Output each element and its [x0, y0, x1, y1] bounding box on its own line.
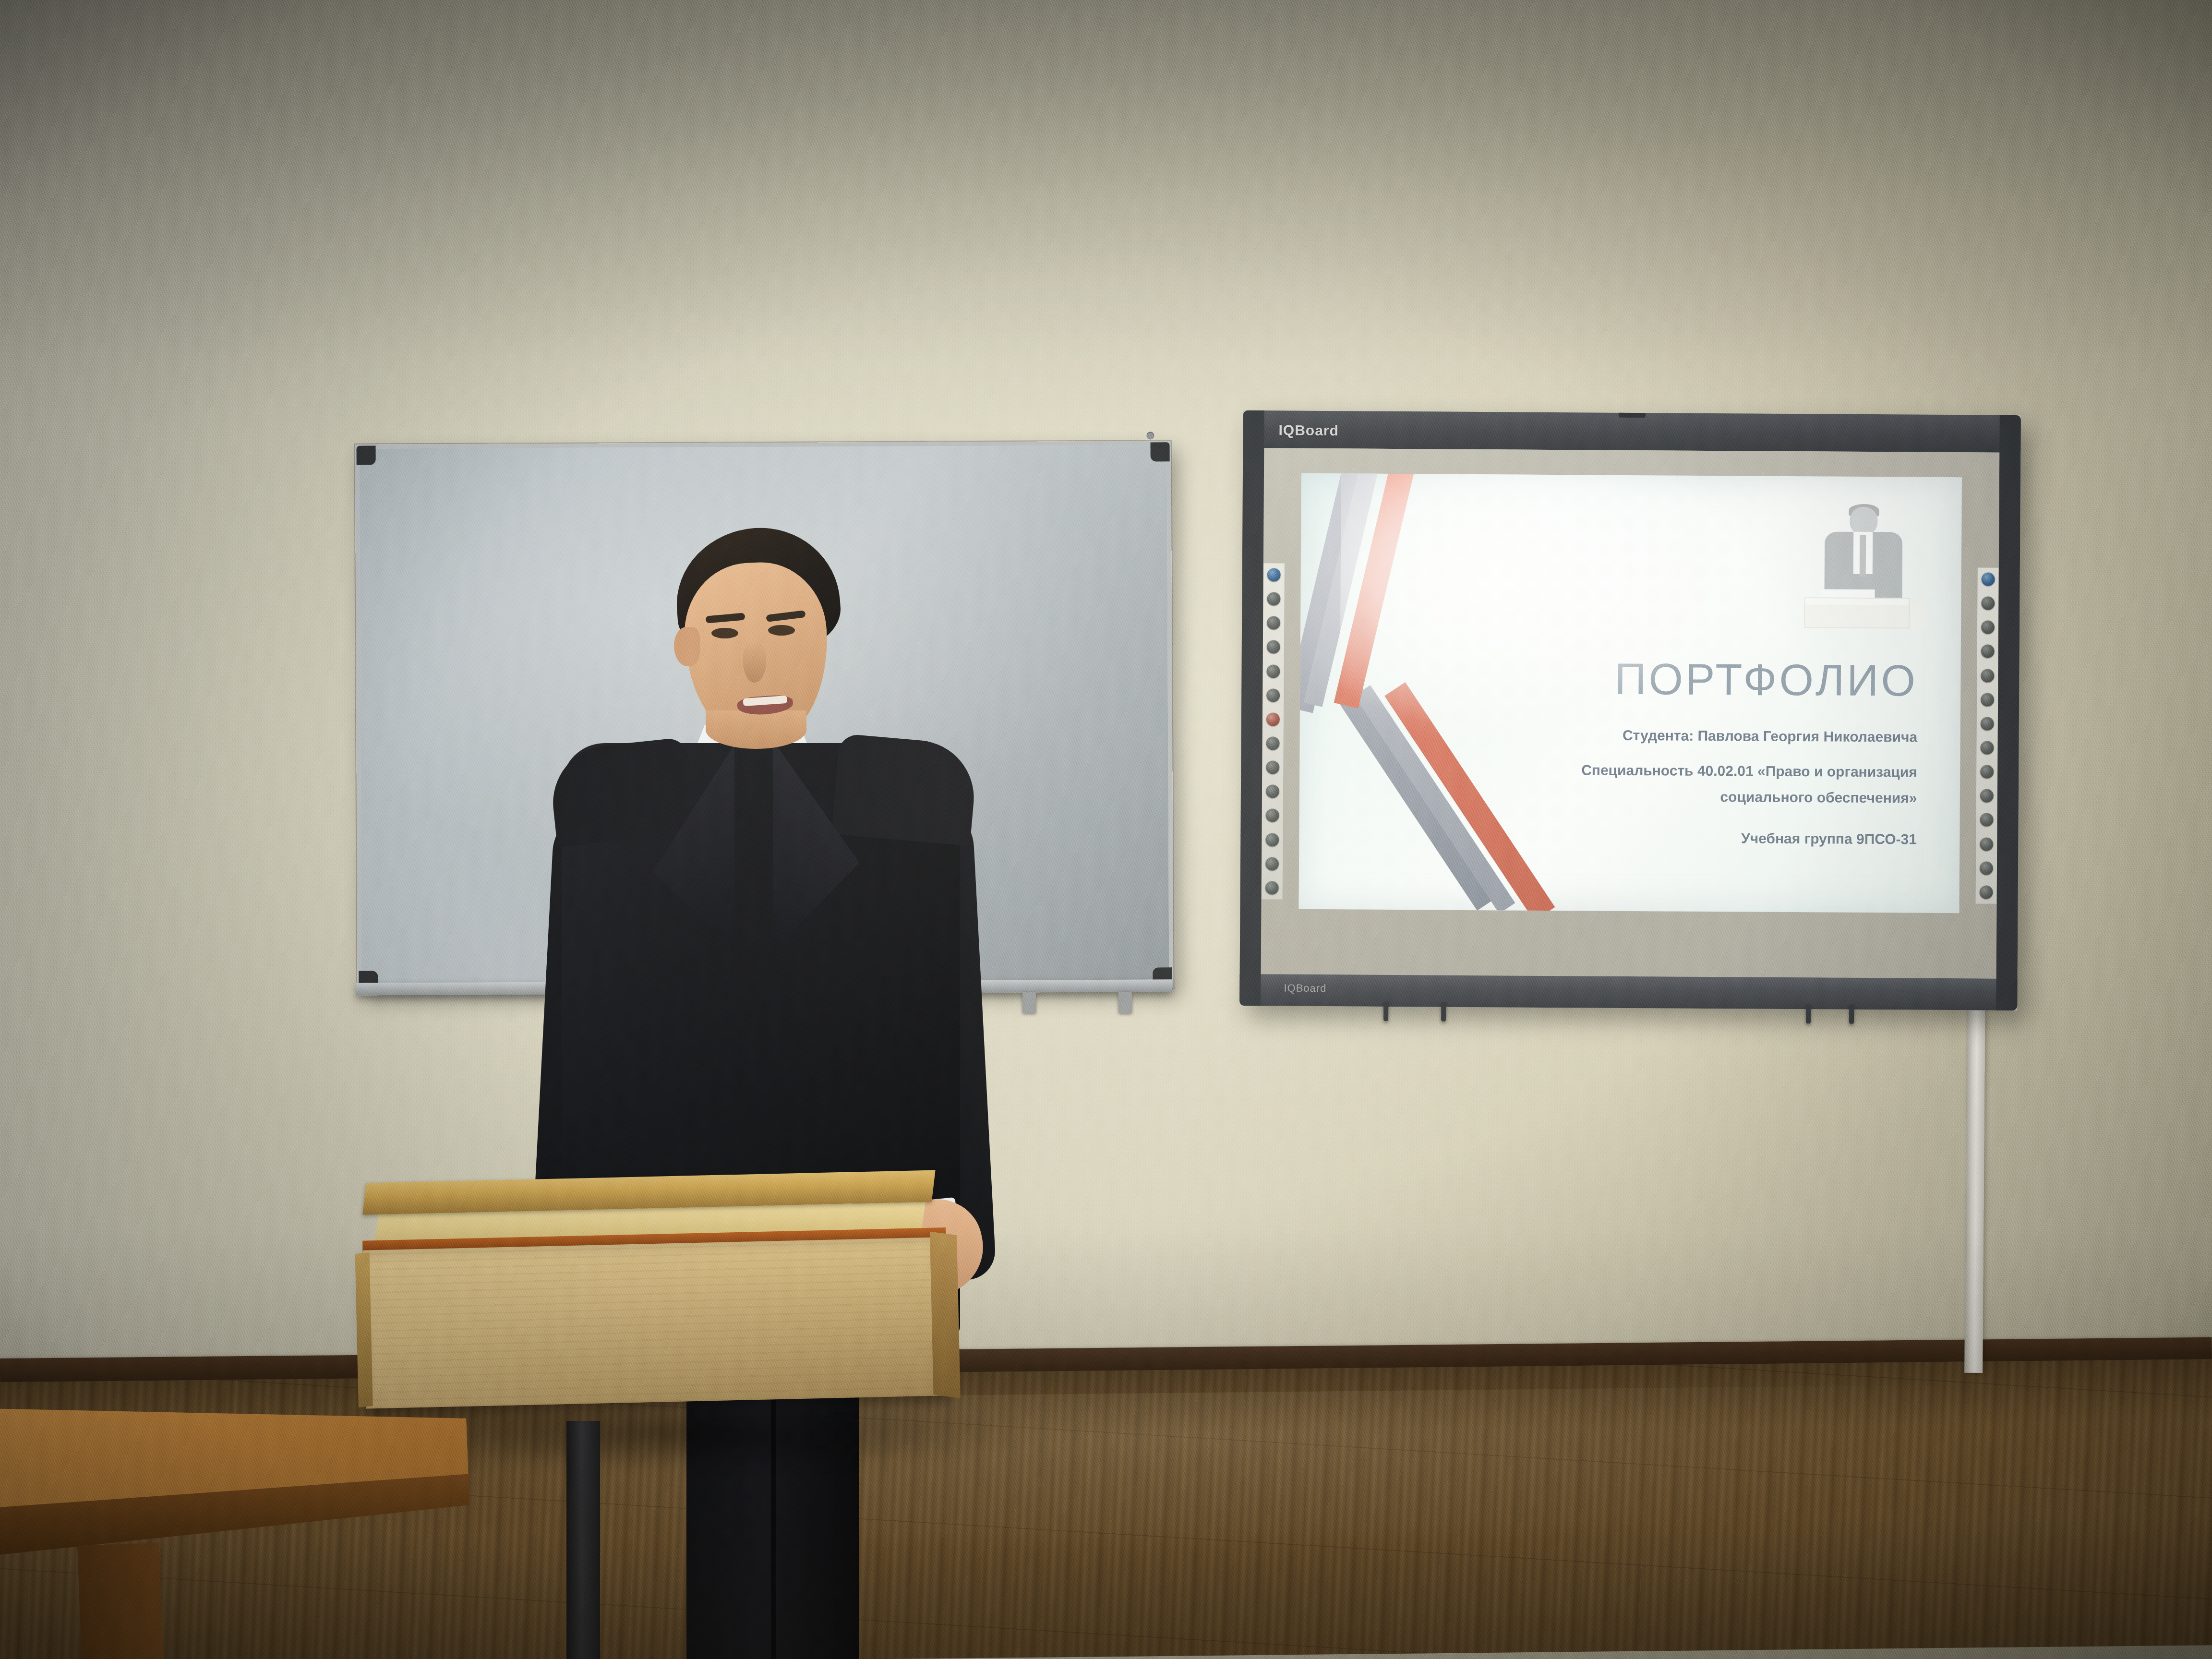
photo-lectern: [1804, 597, 1910, 628]
slide-chevron-gray2-lower: [1354, 685, 1515, 913]
iqboard-bottom-bar: IQBoard: [1239, 974, 2017, 1010]
redo-button[interactable]: [1265, 833, 1279, 846]
highlighter-button[interactable]: [1266, 688, 1280, 702]
iqboard-bottom-label: IQBoard: [1284, 982, 1326, 995]
lectern-right-side: [930, 1231, 961, 1398]
redo-button[interactable]: [1980, 837, 1993, 851]
previous-page-button[interactable]: [1981, 621, 1995, 634]
slide-line-specialty-1: Специальность 40.02.01 «Право и организа…: [1581, 760, 1917, 782]
pen-hook[interactable]: [1441, 1002, 1446, 1022]
iqboard-top-bar: IQBoard: [1243, 410, 2020, 453]
photo-head: [1850, 507, 1878, 535]
whiteboard-corner-cap-top-left: [357, 446, 376, 465]
power-button[interactable]: [1982, 572, 1995, 586]
whiteboard-mount-screw: [1146, 432, 1154, 439]
student-left-eye: [711, 628, 738, 638]
previous-page-button[interactable]: [1267, 616, 1280, 630]
blue-pen-button[interactable]: [1980, 741, 1994, 754]
iqboard-bezel: ПОРТФОЛИО Студента: Павлова Георгия Нико…: [1261, 448, 2000, 978]
lectern-front-face: [362, 1237, 949, 1408]
student-right-eye: [768, 625, 795, 636]
iqboard-left-button-panel[interactable]: [1262, 563, 1285, 899]
zoom-in-button[interactable]: [1265, 857, 1279, 870]
slide-line-student: Студента: Павлова Георгия Николаевича: [1623, 726, 1918, 747]
pen-hook[interactable]: [1806, 1004, 1811, 1023]
pen-hook[interactable]: [1849, 1005, 1854, 1024]
undo-button[interactable]: [1980, 813, 1994, 827]
pen-button[interactable]: [1266, 664, 1280, 678]
iqboard-right-endcap: [1996, 415, 2021, 1010]
iqboard-left-endcap: [1239, 410, 1264, 1006]
photo-tie: [1860, 535, 1866, 577]
iqboard-top-notch: [1619, 413, 1646, 418]
student-nose: [743, 641, 766, 683]
whiteboard-wall-bracket: [1118, 992, 1132, 1013]
photo-cup: [1911, 603, 1927, 629]
student-ear: [674, 627, 700, 666]
next-page-button[interactable]: [1981, 645, 1995, 658]
projected-slide: ПОРТФОЛИО Студента: Павлова Георгия Нико…: [1298, 473, 1962, 913]
whiteboard-corner-cap-top-right: [1151, 442, 1170, 461]
foreground-desk: [0, 1387, 475, 1659]
iqboard-brand-label: IQBoard: [1278, 422, 1339, 439]
pen-button[interactable]: [1981, 669, 1994, 682]
lectern-wood-grain: [362, 1237, 949, 1408]
student-chin: [706, 710, 806, 749]
eraser-button[interactable]: [1266, 785, 1279, 798]
pen-hook[interactable]: [1383, 1002, 1388, 1021]
power-button[interactable]: [1267, 568, 1281, 581]
undo-button[interactable]: [1266, 809, 1279, 822]
student-right-shoulder: [831, 733, 978, 846]
wall-top-shadow: [0, 0, 2212, 365]
save-button[interactable]: [1267, 592, 1280, 606]
businessman-at-lectern-photo: [1799, 503, 1925, 643]
blue-pen-button[interactable]: [1266, 736, 1279, 750]
save-button[interactable]: [1981, 597, 1995, 610]
keyboard-button[interactable]: [1980, 885, 1993, 899]
red-pen-button[interactable]: [1981, 717, 1994, 730]
student-left-shoulder: [547, 737, 696, 847]
photo-lectern-top: [1805, 598, 1909, 605]
lectern-support-post: [566, 1421, 600, 1659]
zoom-in-button[interactable]: [1980, 861, 1993, 875]
slide-title: ПОРТФОЛИО: [1614, 654, 1918, 706]
eraser-button[interactable]: [1980, 789, 1994, 803]
next-page-button[interactable]: [1267, 640, 1280, 654]
keyboard-button[interactable]: [1265, 881, 1279, 894]
projection-screen-strip: [1964, 979, 1985, 1373]
green-pen-button[interactable]: [1266, 760, 1279, 774]
foreground-desk-leg: [77, 1542, 164, 1659]
highlighter-button[interactable]: [1981, 693, 1994, 706]
iqboard-right-button-panel[interactable]: [1976, 567, 1999, 903]
interactive-whiteboard[interactable]: IQBoard: [1239, 410, 2021, 1010]
classroom-presentation-photo: IQBoard: [0, 0, 2212, 1659]
slide-line-specialty-2: социального обеспечения»: [1720, 787, 1917, 808]
green-pen-button[interactable]: [1980, 765, 1994, 779]
slide-line-group: Учебная группа 9ПСО-31: [1741, 829, 1917, 850]
red-pen-button[interactable]: [1266, 712, 1280, 726]
